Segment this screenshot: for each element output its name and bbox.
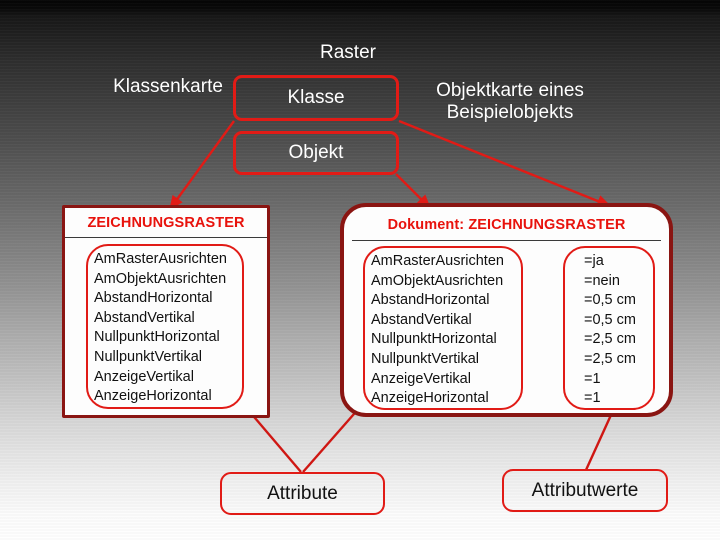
callout-attributwerte-label: Attributwerte [532, 480, 639, 502]
page-title: Raster [283, 42, 413, 64]
node-objekt-label: Objekt [289, 142, 344, 164]
attribute-value-item: =0,5 cm [584, 311, 636, 331]
class-card-title: ZEICHNUNGSRASTER [65, 208, 267, 237]
attribute-value-item: =2,5 cm [584, 350, 636, 370]
attribute-value-item: =0,5 cm [584, 291, 636, 311]
attribute-item: AbstandVertikal [371, 311, 504, 331]
callout-attributwerte[interactable]: Attributwerte [502, 469, 668, 512]
attribute-item: AmRasterAusrichten [94, 250, 227, 270]
attribute-value-item: =1 [584, 389, 636, 409]
attribute-item: NullpunktVertikal [371, 350, 504, 370]
node-klasse[interactable]: Klasse [233, 75, 399, 121]
attribute-item: NullpunktHorizontal [371, 330, 504, 350]
slide-canvas: Raster Klassenkarte Objektkarte eines Be… [0, 0, 720, 540]
attribute-item: AbstandHorizontal [94, 289, 227, 309]
attribute-value-item: =2,5 cm [584, 330, 636, 350]
object-card-title: Dokument: ZEICHNUNGSRASTER [344, 207, 669, 240]
attribute-value-item: =ja [584, 252, 636, 272]
object-card-attribute-list[interactable]: AmRasterAusrichtenAmObjektAusrichtenAbst… [371, 252, 504, 409]
attribute-value-item: =nein [584, 272, 636, 292]
class-card[interactable]: ZEICHNUNGSRASTER AmRasterAusrichtenAmObj… [62, 205, 270, 418]
object-card-value-list[interactable]: =ja=nein=0,5 cm=0,5 cm=2,5 cm=2,5 cm=1=1 [584, 252, 636, 409]
attribute-item: NullpunktVertikal [94, 348, 227, 368]
attribute-item: AmObjektAusrichten [94, 270, 227, 290]
class-card-body: AmRasterAusrichtenAmObjektAusrichtenAbst… [65, 238, 267, 416]
attribute-item: AnzeigeVertikal [371, 370, 504, 390]
caption-klassenkarte: Klassenkarte [98, 76, 238, 98]
attribute-item: AbstandVertikal [94, 309, 227, 329]
node-klasse-label: Klasse [287, 87, 344, 109]
attribute-value-item: =1 [584, 370, 636, 390]
attribute-item: AbstandHorizontal [371, 291, 504, 311]
object-card-body: AmRasterAusrichtenAmObjektAusrichtenAbst… [344, 241, 669, 414]
attribute-item: NullpunktHorizontal [94, 328, 227, 348]
callout-attribute[interactable]: Attribute [220, 472, 385, 515]
attribute-item: AnzeigeHorizontal [94, 387, 227, 407]
attribute-item: AmObjektAusrichten [371, 272, 504, 292]
class-card-attribute-list[interactable]: AmRasterAusrichtenAmObjektAusrichtenAbst… [94, 250, 227, 407]
node-objekt[interactable]: Objekt [233, 131, 399, 175]
attribute-item: AmRasterAusrichten [371, 252, 504, 272]
callout-attribute-label: Attribute [267, 483, 338, 505]
caption-objektkarte: Objektkarte eines Beispielobjekts [410, 80, 610, 124]
object-card[interactable]: Dokument: ZEICHNUNGSRASTER AmRasterAusri… [340, 203, 673, 417]
attribute-item: AnzeigeVertikal [94, 368, 227, 388]
attribute-item: AnzeigeHorizontal [371, 389, 504, 409]
